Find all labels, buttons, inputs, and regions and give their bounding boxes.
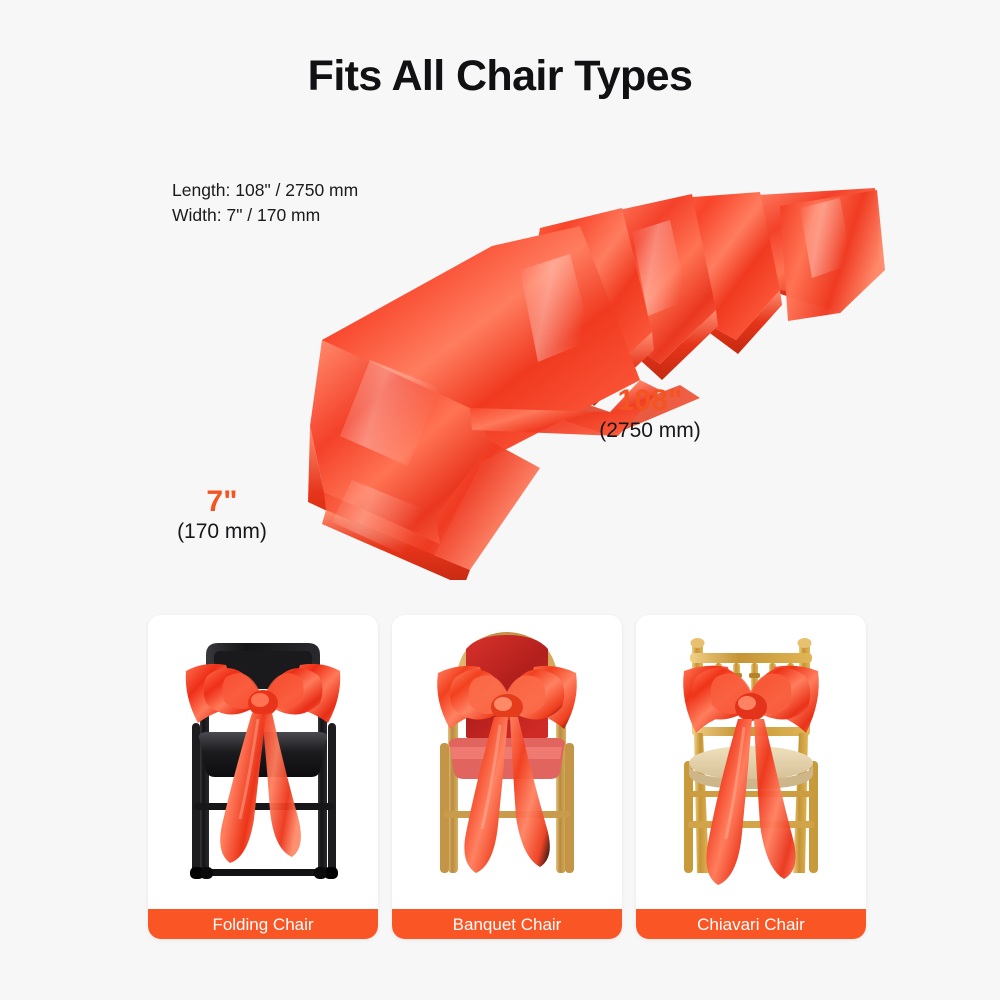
chair-image-folding [148,615,378,909]
callout-width-value: 7" [142,485,302,518]
callout-width-metric: (170 mm) [142,518,302,546]
page-title: Fits All Chair Types [0,52,1000,101]
chair-image-chiavari [636,615,866,909]
callout-length: 108" (2750 mm) [560,384,740,445]
chair-type-card-row: Folding Chair [148,615,866,939]
callout-length-value: 108" [560,384,740,417]
chair-card-folding[interactable]: Folding Chair [148,615,378,939]
callout-length-metric: (2750 mm) [560,417,740,445]
chair-card-chiavari[interactable]: Chiavari Chair [636,615,866,939]
chiavari-chair-icon [636,615,866,907]
chair-card-banquet[interactable]: Banquet Chair [392,615,622,939]
folding-chair-icon [148,615,378,907]
infographic-page: Fits All Chair Types Length: 108" / 2750… [0,0,1000,1000]
callout-width: 7" (170 mm) [142,485,302,546]
chair-card-label-folding: Folding Chair [148,909,378,939]
chair-image-banquet [392,615,622,909]
chair-card-label-chiavari: Chiavari Chair [636,909,866,939]
chair-card-label-banquet: Banquet Chair [392,909,622,939]
banquet-chair-icon [392,615,622,907]
